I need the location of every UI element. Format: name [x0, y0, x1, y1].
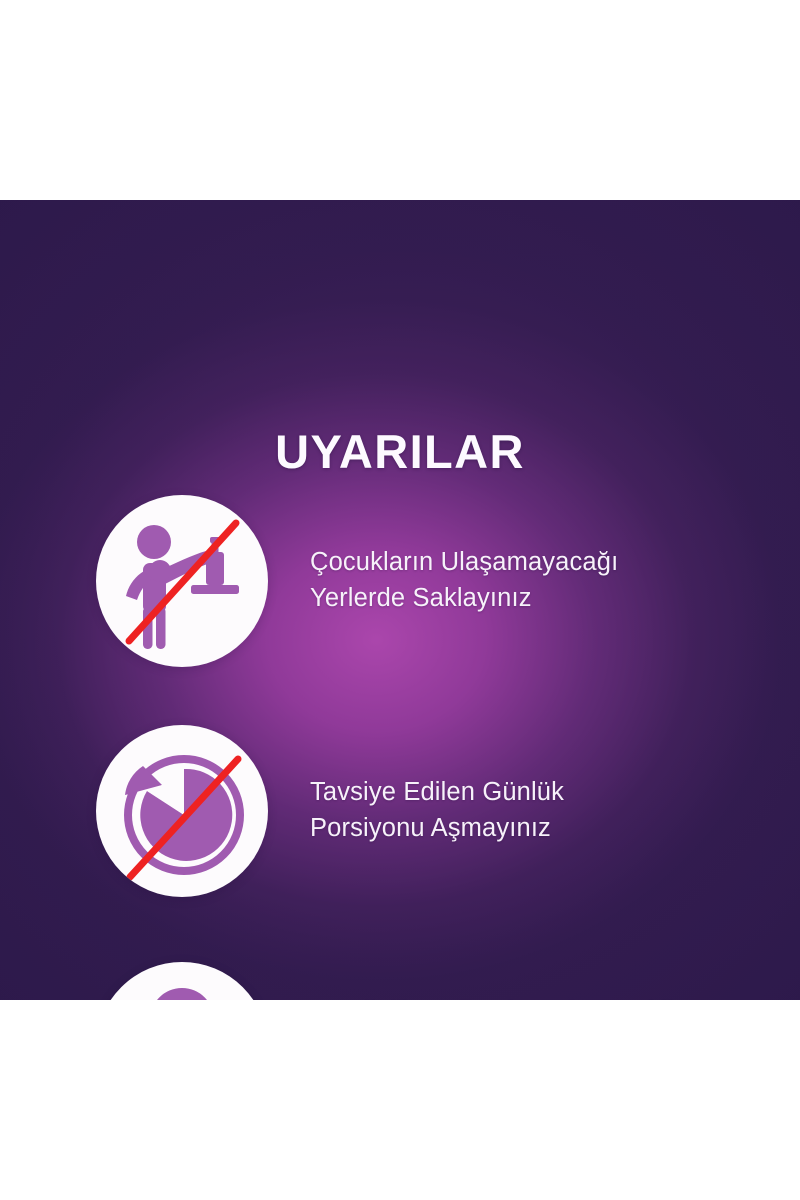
warnings-infographic: UYARILAR [0, 0, 800, 1200]
warning-text-1: Çocukların Ulaşamayacağı Yerlerde Saklay… [310, 545, 618, 616]
warning-text-3: Hamilelik ve Emzirme Dönemi ile Hastalık… [310, 994, 716, 1000]
child-reaching-bottle-prohibited-icon [96, 495, 268, 667]
page-title: UYARILAR [0, 428, 800, 475]
warning-line: Porsiyonu Aşmayınız [310, 811, 564, 847]
warning-row-1: Çocukların Ulaşamayacağı Yerlerde Saklay… [0, 495, 800, 667]
warning-line: Çocukların Ulaşamayacağı [310, 545, 618, 581]
purple-panel: UYARILAR [0, 200, 800, 1000]
warning-line: Yerlerde Saklayınız [310, 581, 618, 617]
warning-line: Tavsiye Edilen Günlük [310, 775, 564, 811]
warning-text-2: Tavsiye Edilen Günlük Porsiyonu Aşmayını… [310, 775, 564, 846]
doctor-stethoscope-icon [96, 962, 268, 1000]
warning-row-3: Hamilelik ve Emzirme Dönemi ile Hastalık… [0, 962, 800, 1000]
daily-portion-pie-prohibited-icon [96, 725, 268, 897]
warning-row-2: Tavsiye Edilen Günlük Porsiyonu Aşmayını… [0, 725, 800, 897]
warning-line: Hamilelik ve Emzirme Dönemi ile [310, 994, 716, 1000]
